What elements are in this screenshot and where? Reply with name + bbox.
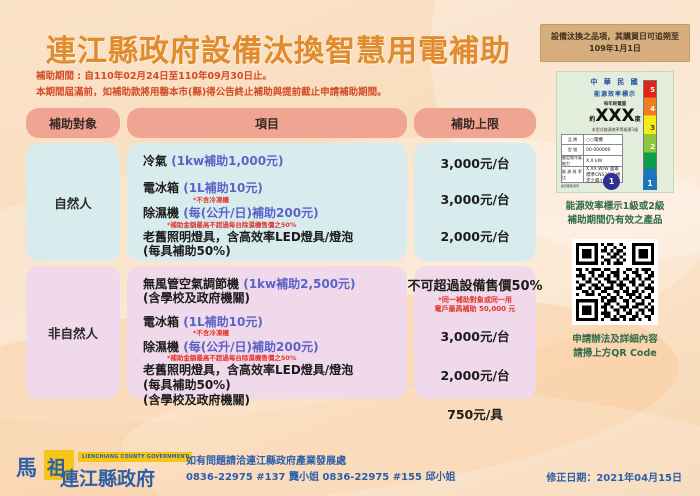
- scale-level-1: 1: [643, 177, 657, 190]
- column-header-limit: 補助上限: [414, 108, 536, 138]
- eligibility-line-1: 能源效率標示1級或2級: [540, 200, 690, 214]
- scale-level-4: 4: [650, 105, 655, 113]
- spec-key: 品 牌: [562, 135, 584, 144]
- spec-key: 能 源 效 率 比: [562, 167, 584, 182]
- item-scope: (含學校及政府機關): [143, 292, 407, 306]
- subsidy-table: 補助對象 項目 補助上限 自然人 冷氣 (1kw補助1,000元) 電冰箱 (1…: [26, 108, 536, 399]
- energy-efficiency-label-image: 中 華 民 國 能源效率標示 每年耗電量 約XXX度 本型式能源效率等級第1級 …: [556, 71, 674, 193]
- limit-value: 3,000元/台: [440, 153, 509, 172]
- label-unit: 度: [635, 116, 641, 123]
- table-row: 非自然人 無風管空氣調節機 (1kw補助2,500元) (含學校及政府機關) 電…: [26, 266, 536, 399]
- limit-headline-note: *同一補助對象或同一用: [438, 296, 512, 305]
- item-note: *補助金額最高不超過每台除濕機售價之50%: [167, 355, 407, 362]
- spec-key: 額定總冷氣能力: [562, 156, 584, 166]
- page-title: 連江縣政府設備汰換智慧用電補助: [46, 26, 511, 70]
- item-name: 老舊照明燈具，含高效率LED燈具/燈泡: [143, 363, 353, 377]
- table-row: 品 牌 ○○電機: [561, 134, 623, 145]
- purchase-date-tip: 設備汰換之品項，其購買日可追朔至 109年1月1日: [540, 24, 690, 62]
- item-name: 電冰箱: [143, 181, 179, 195]
- logo-chinese-name: 連江縣政府: [60, 464, 155, 491]
- scale-level-5: 5: [650, 86, 655, 94]
- limit-headline-note: 電戶最高補助 50,000 元: [435, 305, 516, 314]
- item-detail: (每(公升/日)補助200元): [183, 340, 318, 354]
- row-label-natural-person: 自然人: [26, 143, 120, 261]
- qr-instruction: 申請辦法及詳細內容 請掃上方QR Code: [540, 333, 690, 362]
- list-item: 電冰箱 (1L補助10元): [143, 182, 407, 196]
- column-header-target: 補助對象: [26, 108, 120, 138]
- scale-level-2: 2: [650, 143, 655, 151]
- footer: 馬 祖 LIENCHIANG COUNTY GOVERNMENT 連江縣政府 如…: [0, 442, 700, 496]
- row-label-non-natural-person: 非自然人: [26, 266, 120, 399]
- efficiency-scale-bar: 5 4 3 2: [643, 80, 657, 184]
- row-values-natural-person: 3,000元/台 3,000元/台 2,000元/台 750元/具: [414, 143, 536, 261]
- row-items-natural-person: 冷氣 (1kw補助1,000元) 電冰箱 (1L補助10元) *不含冷凍櫃 除濕…: [127, 143, 407, 261]
- table-header-row: 補助對象 項目 補助上限: [26, 108, 536, 138]
- spec-value: X.X kW: [584, 156, 622, 166]
- subsidy-terms-text: 本期間屆滿前，如補助款將用罄本市(縣)得公告終止補助與提前截止申請補助期間。: [36, 84, 387, 98]
- subsidy-period-text: 補助期間 : 自110年02月24日至110年09月30日止。: [36, 68, 272, 82]
- list-item: 除濕機 (每(公升/日)補助200元): [143, 341, 407, 355]
- spec-key: 型 號: [562, 145, 584, 155]
- item-name: 除濕機: [143, 206, 179, 220]
- item-name: 無風管空氣調節機: [143, 277, 239, 291]
- logo-english-name: LIENCHIANG COUNTY GOVERNMENT: [78, 452, 192, 462]
- item-name: 冷氣: [143, 154, 167, 168]
- list-item: 老舊照明燈具，含高效率LED燈具/燈泡: [143, 364, 407, 378]
- sidebar: 設備汰換之品項，其購買日可追朔至 109年1月1日 中 華 民 國 能源效率標示…: [540, 24, 690, 361]
- item-note: *不含冷凍櫃: [193, 197, 407, 204]
- row-values-non-natural-person: 不可超過設備售價50% *同一補助對象或同一用 電戶最高補助 50,000 元 …: [414, 266, 536, 399]
- qr-instruction-line-2: 請掃上方QR Code: [540, 347, 690, 361]
- limit-value: 2,000元/台: [440, 365, 509, 384]
- limit-value: 3,000元/台: [440, 326, 509, 345]
- efficiency-grade-badge: 1: [603, 173, 620, 190]
- spec-value: ○○電機: [584, 135, 622, 144]
- qr-instruction-line-1: 申請辦法及詳細內容: [540, 333, 690, 347]
- qr-code-image: [576, 243, 654, 321]
- eligibility-line-2: 補助期間仍有效之產品: [540, 214, 690, 228]
- contact-department: 如有問題請洽連江縣政府產業發展處: [186, 454, 455, 470]
- item-note: *補助金額最高不超過每台除濕機售價之50%: [167, 222, 407, 229]
- label-issuer: 經濟部能源局: [561, 185, 605, 189]
- list-item: 冷氣 (1kw補助1,000元): [143, 155, 407, 169]
- government-logo: 馬 祖 LIENCHIANG COUNTY GOVERNMENT 連江縣政府: [16, 450, 166, 490]
- item-detail: (1kw補助1,000元): [171, 154, 283, 168]
- item-detail: (1L補助10元): [183, 315, 263, 329]
- spec-value: 00-000000: [584, 145, 622, 155]
- revision-date: 修正日期：2021年04月15日: [546, 469, 682, 484]
- limit-headline: 不可超過設備售價50%: [407, 275, 542, 294]
- list-item: 老舊照明燈具，含高效率LED燈具/燈泡: [143, 231, 407, 245]
- item-detail: (1L補助10元): [183, 181, 263, 195]
- row-items-non-natural-person: 無風管空氣調節機 (1kw補助2,500元) (含學校及政府機關) 電冰箱 (1…: [127, 266, 407, 399]
- list-item: 除濕機 (每(公升/日)補助200元): [143, 207, 407, 221]
- item-detail: (每(公升/日)補助200元): [183, 206, 318, 220]
- column-header-item: 項目: [127, 108, 407, 138]
- scale-level-3: 3: [650, 124, 655, 132]
- item-note: *不含冷凍櫃: [193, 330, 407, 337]
- limit-value: 2,000元/台: [440, 226, 509, 245]
- contact-phones: 0836-22975 #137 龔小姐 0836-22975 #155 邱小姐: [186, 470, 455, 486]
- item-name: 除濕機: [143, 340, 179, 354]
- item-scope: (含學校及政府機關): [143, 394, 407, 408]
- list-item: 電冰箱 (1L補助10元): [143, 316, 407, 330]
- item-detail: (每具補助50%): [143, 245, 407, 259]
- eligibility-note: 能源效率標示1級或2級 補助期間仍有效之產品: [540, 200, 690, 229]
- label-xxx: XXX: [595, 106, 634, 126]
- item-detail: (每具補助50%): [143, 379, 407, 393]
- limit-value: 3,000元/台: [440, 189, 509, 208]
- contact-info: 如有問題請洽連江縣政府產業發展處 0836-22975 #137 龔小姐 083…: [186, 454, 455, 486]
- list-item: 無風管空氣調節機 (1kw補助2,500元): [143, 278, 407, 292]
- qr-code[interactable]: [572, 239, 658, 325]
- poster-root: 連江縣政府設備汰換智慧用電補助 補助期間 : 自110年02月24日至110年0…: [0, 0, 700, 496]
- item-name: 電冰箱: [143, 315, 179, 329]
- table-row: 自然人 冷氣 (1kw補助1,000元) 電冰箱 (1L補助10元) *不含冷凍…: [26, 143, 536, 261]
- item-detail: (1kw補助2,500元): [243, 277, 355, 291]
- logo-char-ma: 馬: [16, 452, 36, 482]
- limit-value: 750元/具: [447, 404, 503, 423]
- item-name: 老舊照明燈具，含高效率LED燈具/燈泡: [143, 230, 353, 244]
